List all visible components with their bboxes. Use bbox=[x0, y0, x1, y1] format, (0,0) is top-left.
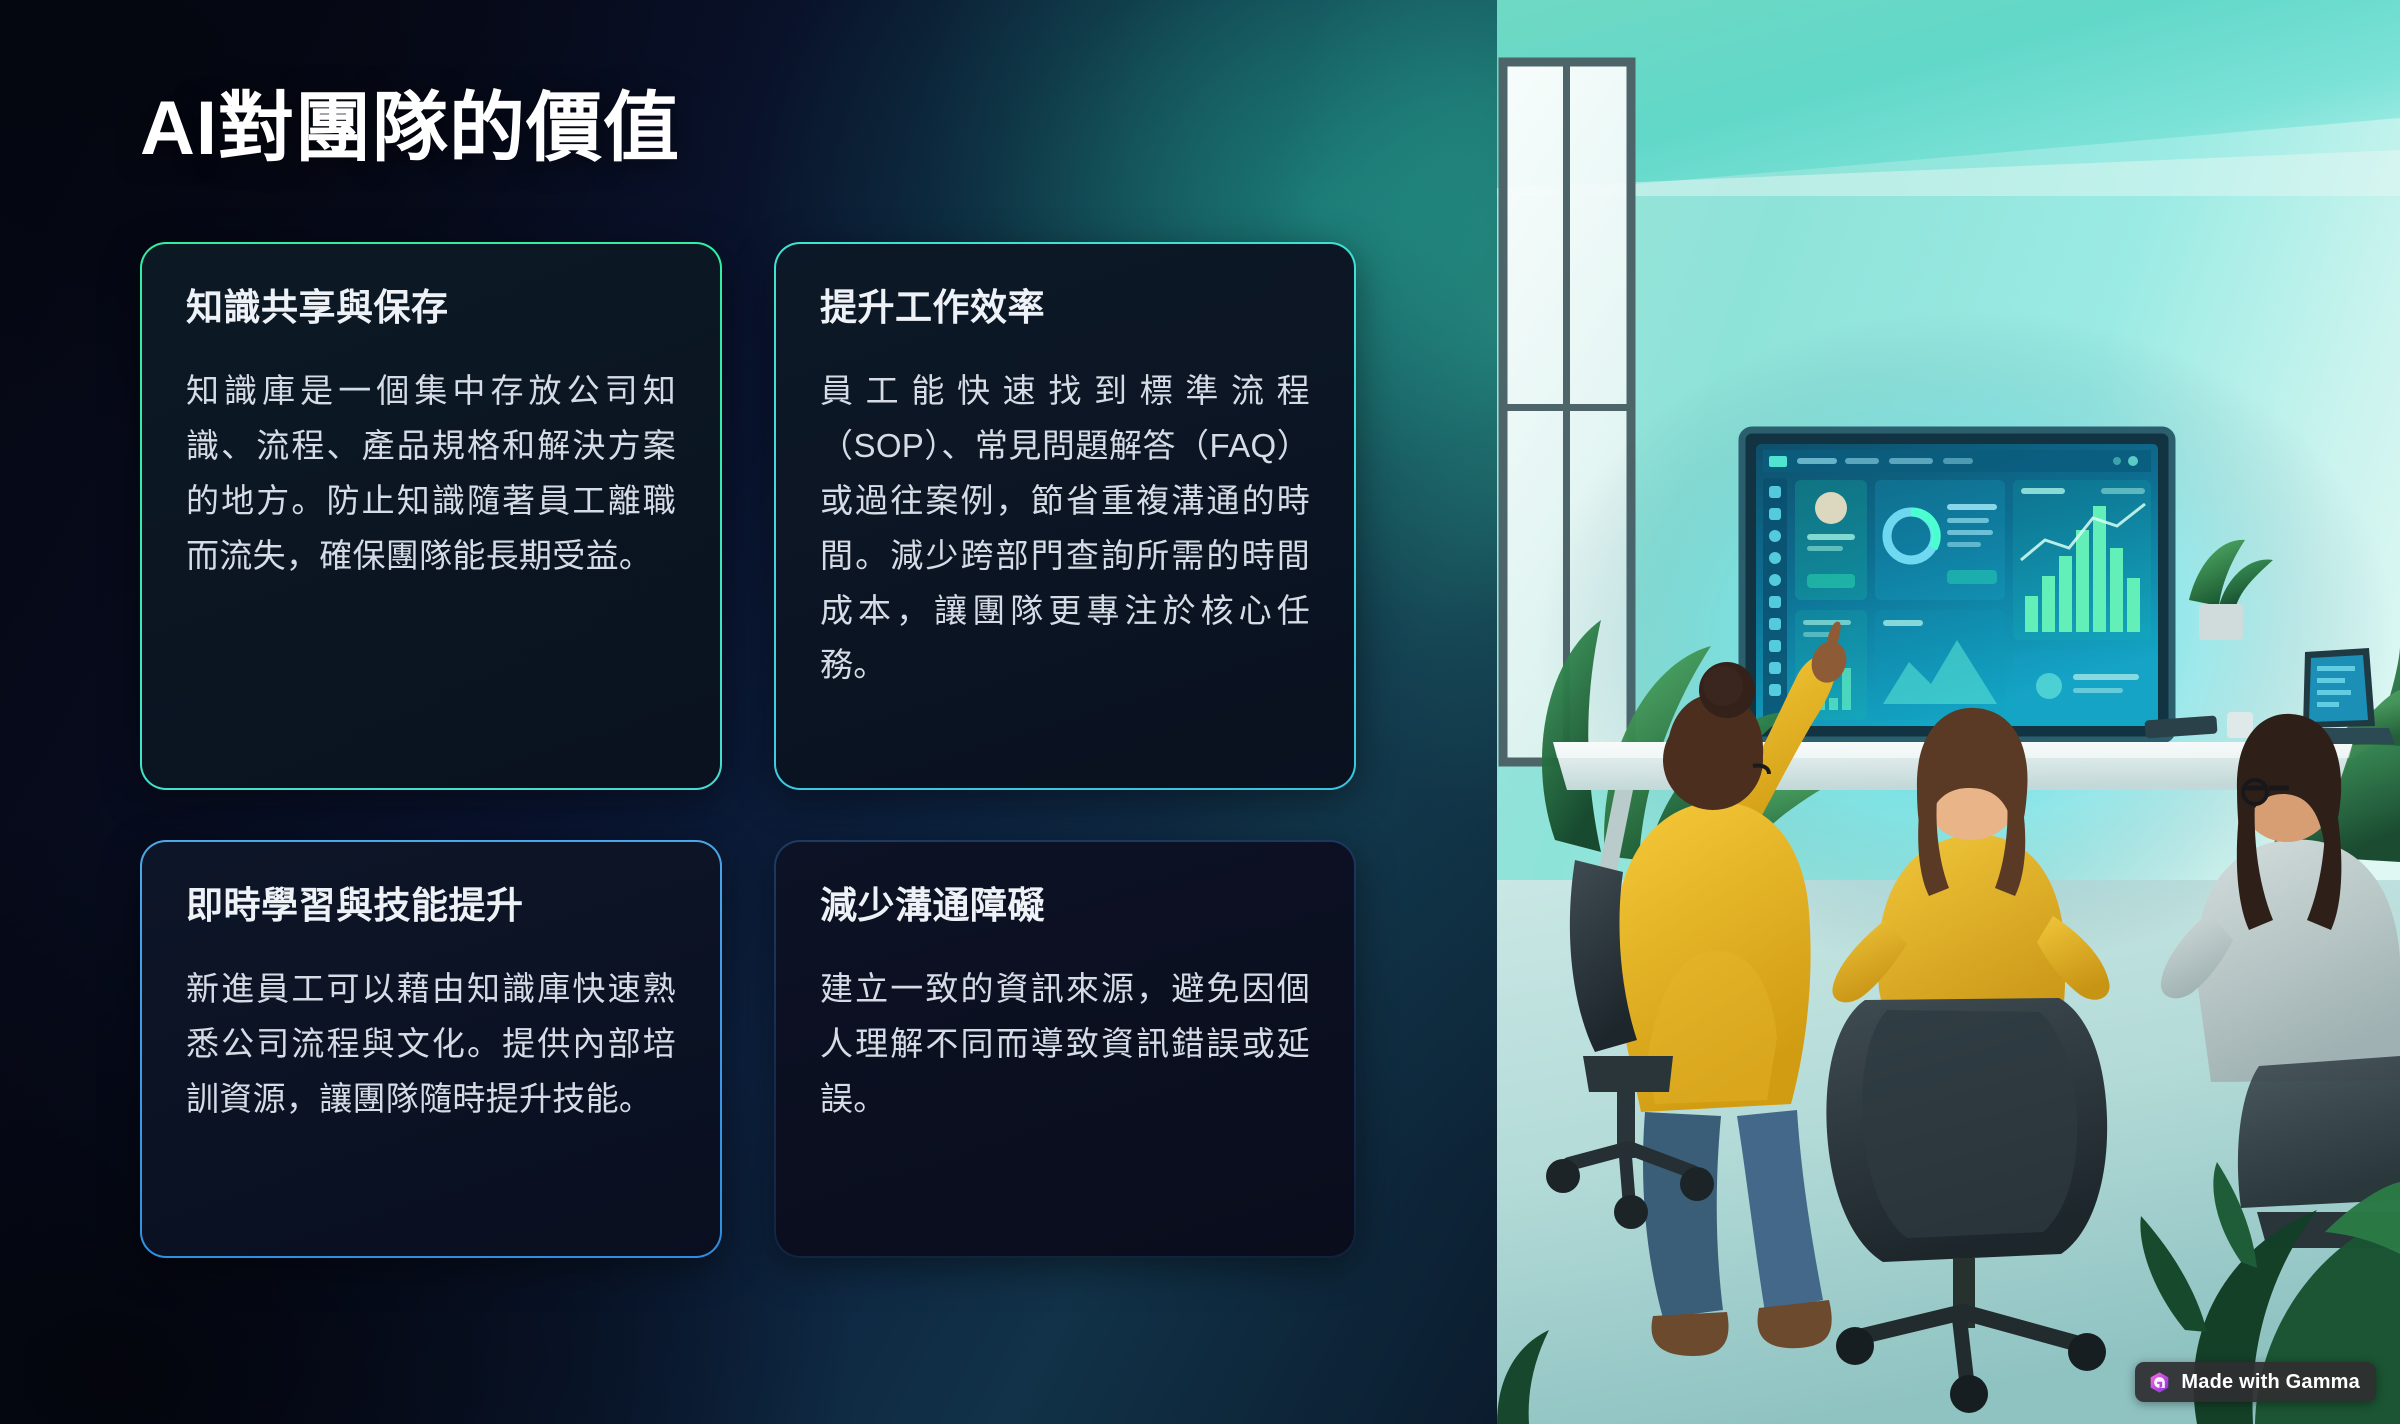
value-card-grid: 知識共享與保存 知識庫是一個集中存放公司知識、流程、產品規格和解決方案的地方。防… bbox=[140, 242, 1356, 1258]
content-panel: AI對團隊的價值 知識共享與保存 知識庫是一個集中存放公司知識、流程、產品規格和… bbox=[0, 0, 1497, 1424]
office-team-dashboard-photo bbox=[1497, 0, 2400, 1424]
office-team-dashboard-illustration bbox=[1497, 0, 2400, 1424]
card-body: 新進員工可以藉由知識庫快速熟悉公司流程與文化。提供內部培訓資源，讓團隊隨時提升技… bbox=[186, 962, 676, 1126]
slide-root: AI對團隊的價值 知識共享與保存 知識庫是一個集中存放公司知識、流程、產品規格和… bbox=[0, 0, 2400, 1424]
card-body: 建立一致的資訊來源，避免因個人理解不同而導致資訊錯誤或延誤。 bbox=[820, 962, 1310, 1126]
card-body: 知識庫是一個集中存放公司知識、流程、產品規格和解決方案的地方。防止知識隨著員工離… bbox=[186, 364, 676, 583]
value-card-reduce-communication-barriers[interactable]: 減少溝通障礙 建立一致的資訊來源，避免因個人理解不同而導致資訊錯誤或延誤。 bbox=[774, 840, 1356, 1258]
made-with-gamma-label: Made with Gamma bbox=[2181, 1371, 2360, 1394]
card-heading: 提升工作效率 bbox=[820, 286, 1310, 330]
value-card-knowledge-sharing[interactable]: 知識共享與保存 知識庫是一個集中存放公司知識、流程、產品規格和解決方案的地方。防… bbox=[140, 242, 722, 790]
value-card-instant-learning[interactable]: 即時學習與技能提升 新進員工可以藉由知識庫快速熟悉公司流程與文化。提供內部培訓資… bbox=[140, 840, 722, 1258]
card-heading: 知識共享與保存 bbox=[186, 286, 676, 330]
card-heading: 即時學習與技能提升 bbox=[186, 884, 676, 928]
value-card-work-efficiency[interactable]: 提升工作效率 員工能快速找到標準流程（SOP）、常見問題解答（FAQ）或過往案例… bbox=[774, 242, 1356, 790]
gamma-logo-icon bbox=[2148, 1371, 2171, 1394]
page-title: AI對團隊的價值 bbox=[140, 88, 1401, 170]
card-heading: 減少溝通障礙 bbox=[820, 884, 1310, 928]
card-body: 員工能快速找到標準流程（SOP）、常見問題解答（FAQ）或過往案例，節省重複溝通… bbox=[820, 364, 1310, 693]
made-with-gamma-badge[interactable]: Made with Gamma bbox=[2135, 1362, 2376, 1402]
content-panel-inner: AI對團隊的價值 知識共享與保存 知識庫是一個集中存放公司知識、流程、產品規格和… bbox=[0, 0, 1497, 1258]
